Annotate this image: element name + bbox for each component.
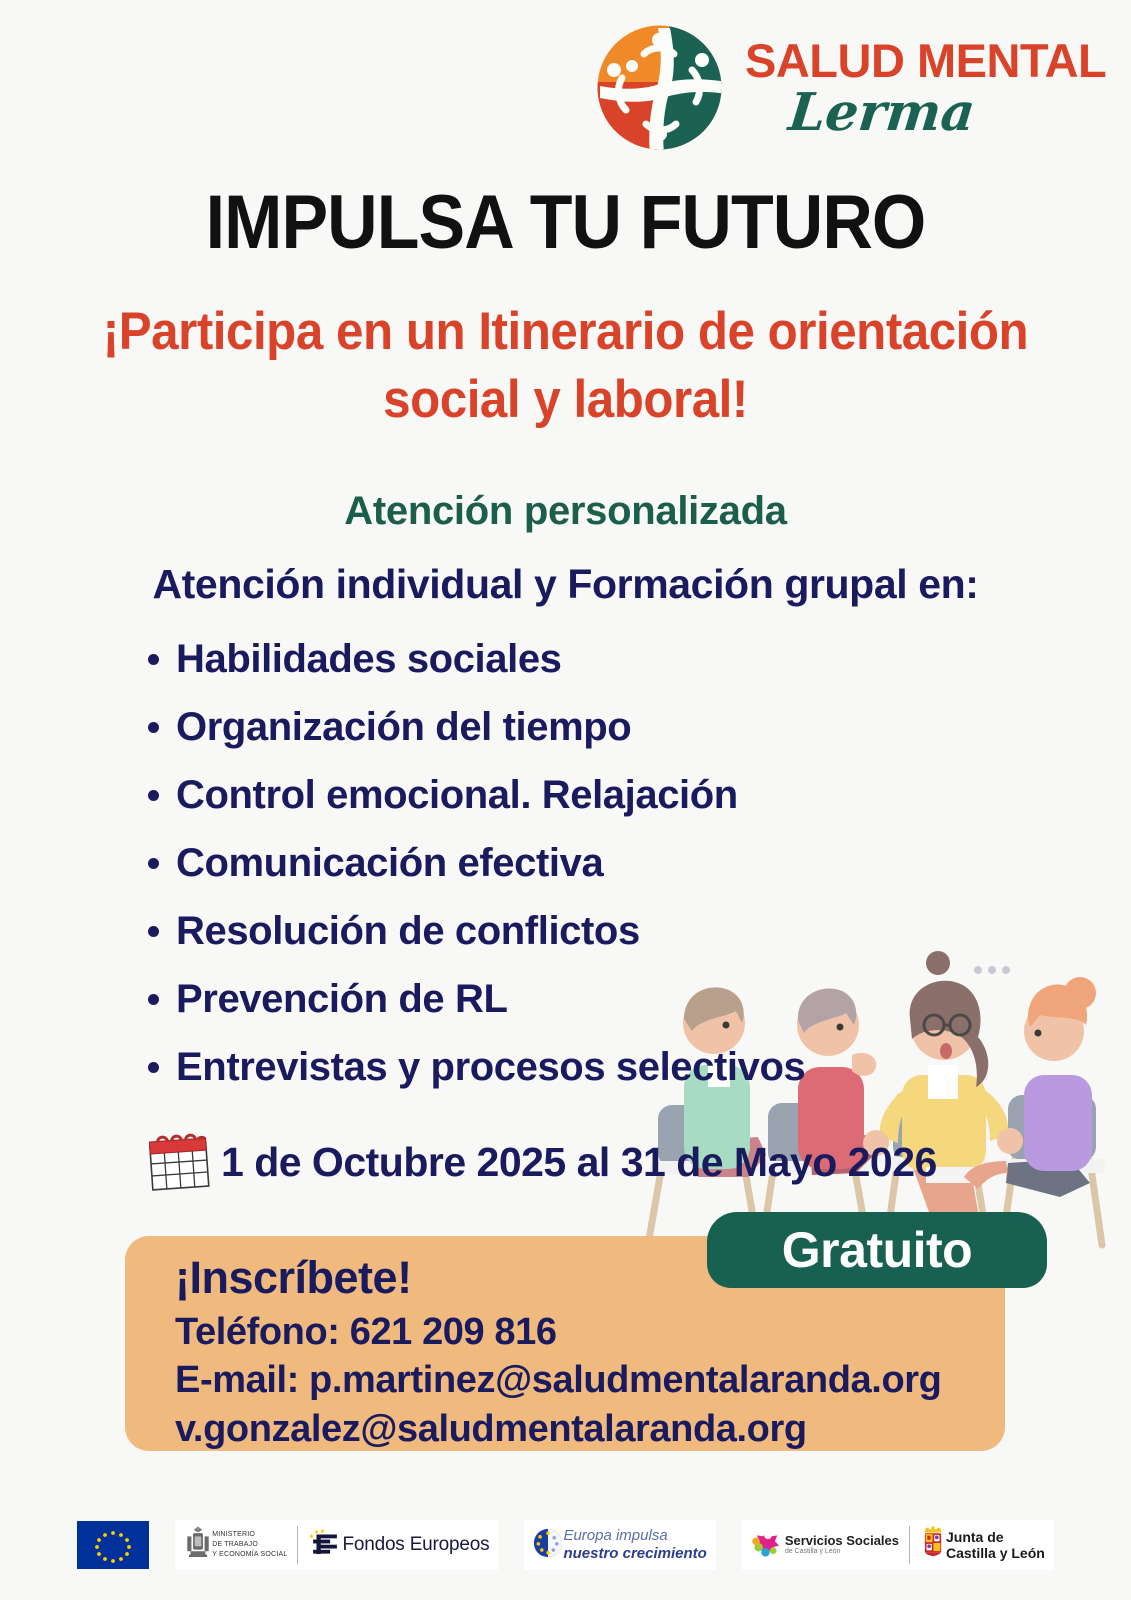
castilla-y-leon-shield-icon	[920, 1526, 946, 1565]
badge-label: Gratuito	[782, 1221, 972, 1279]
junta-line-2: Castilla y León	[946, 1545, 1045, 1561]
servicios-line-2: de Castilla y León	[785, 1548, 899, 1556]
subtitle-block: ¡Participa en un Itinerario de orientaci…	[95, 298, 1035, 434]
bullet-dot-icon	[148, 722, 159, 733]
list-item-label: Habilidades sociales	[176, 625, 562, 693]
list-item: Resolución de conflictos	[148, 897, 928, 965]
green-tagline: Atención personalizada	[0, 489, 1131, 534]
fondos-europeos-label: Fondos Europeos	[342, 1534, 489, 1556]
divider	[297, 1526, 298, 1564]
status-badge-gratuito: Gratuito	[707, 1212, 1047, 1288]
list-item: Comunicación efectiva	[148, 829, 928, 897]
bullet-dot-icon	[148, 994, 159, 1005]
bullet-dot-icon	[148, 654, 159, 665]
subtitle-line-1: ¡Participa en un Itinerario de orientaci…	[95, 298, 1035, 366]
contact-email-primary[interactable]: E-mail: p.martinez@saludmentalaranda.org	[175, 1356, 1005, 1405]
calendar-icon	[143, 1128, 215, 1196]
ministerio-line-3: y Economía Social	[212, 1550, 287, 1560]
bullet-dot-icon	[148, 790, 159, 801]
list-item-label: Comunicación efectiva	[176, 829, 603, 897]
list-item: Prevención de RL	[148, 965, 928, 1033]
bullet-dot-icon	[148, 1062, 159, 1073]
servicios-sociales-people-icon	[751, 1527, 785, 1564]
list-item: Organización del tiempo	[148, 693, 928, 761]
list-item-label: Control emocional. Relajación	[176, 761, 738, 829]
footer-logo-strip: Ministerio de Trabajo y Economía Social	[0, 1508, 1131, 1582]
ministerio-line-1: Ministerio	[212, 1530, 287, 1540]
date-range-label: 1 de Octubre 2025 al 31 de Mayo 2026	[221, 1139, 937, 1186]
salud-mental-circle-people-logo-icon	[592, 20, 727, 155]
servicios-line-1: Servicios Sociales	[785, 1533, 899, 1548]
contact-phone[interactable]: Teléfono: 621 209 816	[175, 1308, 1005, 1357]
subtitle-line-2: social y laboral!	[95, 366, 1035, 434]
divider	[909, 1526, 910, 1564]
poster-root: SALUD MENTAL Lerma IMPULSA TU FUTURO ¡Pa…	[0, 0, 1131, 1600]
ministerio-line-2: de Trabajo	[212, 1540, 287, 1550]
junta-line-1: Junta de	[946, 1529, 1045, 1545]
brand-title: SALUD MENTAL	[745, 37, 1106, 84]
list-item-label: Prevención de RL	[176, 965, 507, 1033]
page-title: IMPULSA TU FUTURO	[45, 183, 1086, 263]
servicios-sociales-label: Servicios Sociales de Castilla y León	[785, 1534, 899, 1557]
europa-impulsa-logo-card: Europa impulsa nuestro crecimiento	[524, 1520, 715, 1570]
brand-wordmark: SALUD MENTAL Lerma	[745, 33, 1106, 141]
list-item-label: Resolución de conflictos	[176, 897, 640, 965]
list-item: Entrevistas y procesos selectivos	[148, 1033, 928, 1101]
brand-subtitle: Lerma	[742, 86, 1109, 141]
bullet-dot-icon	[148, 858, 159, 869]
junta-servicios-logo-card: Servicios Sociales de Castilla y León	[742, 1520, 1054, 1570]
europa-line-1: Europa impulsa	[563, 1527, 706, 1545]
date-range-row: 1 de Octubre 2025 al 31 de Mayo 2026	[143, 1128, 937, 1196]
ministerio-label: Ministerio de Trabajo y Economía Social	[212, 1530, 287, 1560]
europa-impulsa-label: Europa impulsa nuestro crecimiento	[563, 1527, 706, 1563]
fondos-europeos-icon	[308, 1527, 342, 1564]
bullet-dot-icon	[148, 926, 159, 937]
list-item: Control emocional. Relajación	[148, 761, 928, 829]
contact-email-secondary[interactable]: v.gonzalez@saludmentalaranda.org	[175, 1405, 1005, 1454]
spain-coat-of-arms-icon	[184, 1524, 212, 1567]
junta-castilla-leon-label: Junta de Castilla y León	[946, 1529, 1045, 1561]
brand-logo: SALUD MENTAL Lerma	[592, 12, 1112, 162]
list-item-label: Organización del tiempo	[176, 693, 631, 761]
services-bullet-list: Habilidades sociales Organización del ti…	[148, 625, 928, 1101]
list-item-label: Entrevistas y procesos selectivos	[176, 1033, 805, 1101]
european-union-flag-icon	[77, 1521, 149, 1569]
lead-line: Atención individual y Formación grupal e…	[0, 561, 1131, 608]
europa-impulsa-icon	[533, 1528, 563, 1563]
europa-line-2: nuestro crecimiento	[563, 1545, 706, 1563]
ministerio-fondos-logo-card: Ministerio de Trabajo y Economía Social	[175, 1520, 498, 1570]
list-item: Habilidades sociales	[148, 625, 928, 693]
